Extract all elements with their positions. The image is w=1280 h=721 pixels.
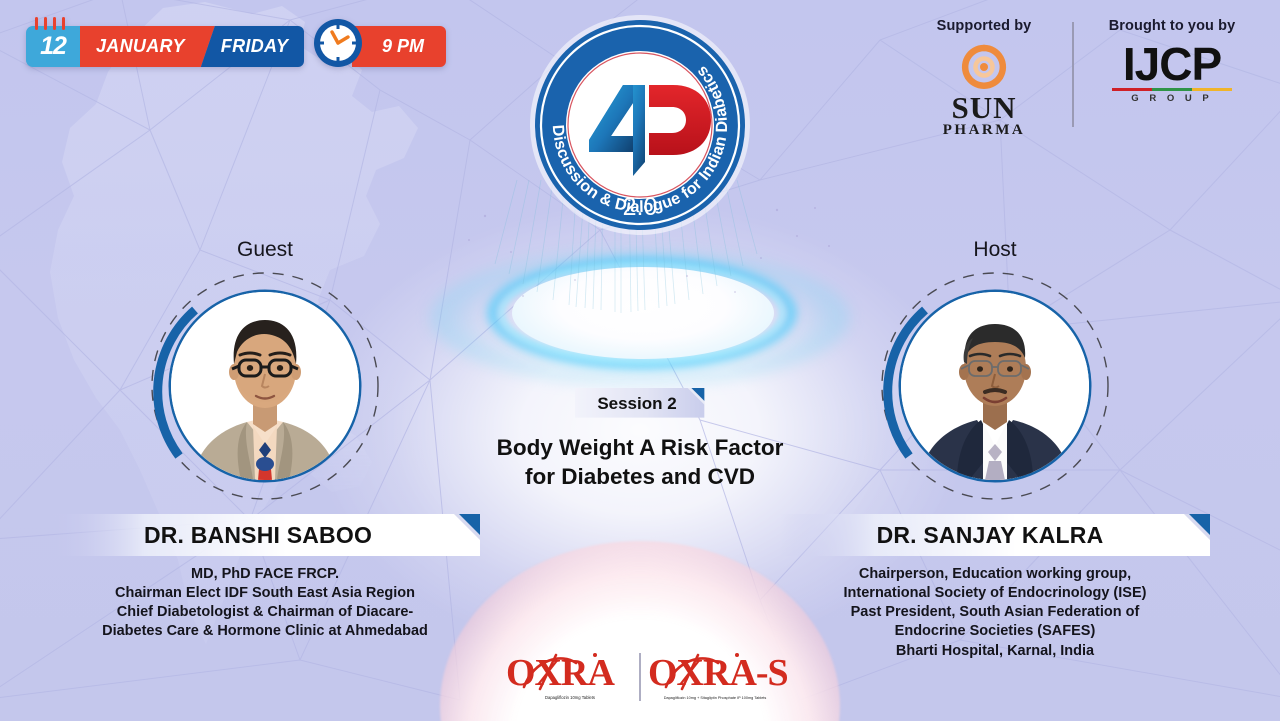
speaker-nameplate: DR. BANSHI SABOO xyxy=(50,514,480,556)
sun-pharma-mark-icon xyxy=(957,41,1011,93)
oxra-s-wordmark: OXRA-S xyxy=(648,652,788,694)
calendar-rings-icon xyxy=(35,17,65,30)
speaker-photo-sanjay-kalra xyxy=(901,292,1089,480)
calendar-icon: 12 xyxy=(26,26,80,67)
event-poster-stage: 12 JANUARY FRIDAY 9 PM xyxy=(0,0,1280,721)
bio-line: Endocrine Societies (SAFES) xyxy=(780,622,1210,641)
speaker-photo-frame xyxy=(149,270,381,502)
bio-line: Chairperson, Education working group, xyxy=(780,565,1210,584)
session-title-line: for Diabetes and CVD xyxy=(440,463,840,492)
sponsor-supported-by: Supported by SUN PHARMA xyxy=(910,18,1058,139)
sun-pharma-subtext: PHARMA xyxy=(943,122,1026,139)
session-title-line: Body Weight A Risk Factor xyxy=(440,434,840,463)
speaker-card-guest: Guest xyxy=(50,238,480,642)
speaker-name: DR. SANJAY KALRA xyxy=(780,514,1210,556)
time-badge: 9 PM xyxy=(310,26,446,67)
sun-pharma-wordmark: SUN xyxy=(951,93,1016,122)
sun-pharma-logo: SUN PHARMA xyxy=(910,41,1058,139)
ijcp-group-logo: IJCP G R O U P xyxy=(1088,41,1256,104)
oxra-dot-icon xyxy=(593,653,597,657)
oxra-s-dot-icon xyxy=(735,653,739,657)
sponsor-area: Supported by SUN PHARMA Brought to you b… xyxy=(910,18,1256,139)
bio-line: Bharti Hospital, Karnal, India xyxy=(780,642,1210,661)
session-block: Session 2 Body Weight A Risk Factor for … xyxy=(440,388,840,492)
oxra-product-logo: OXRA OXRA-S Dapagliflozin 10mg Tablets D… xyxy=(500,643,790,715)
date-day-number: 12 xyxy=(40,32,66,61)
speaker-photo-frame xyxy=(879,270,1111,502)
session-title: Body Weight A Risk Factor for Diabetes a… xyxy=(440,434,840,492)
bio-line: Past President, South Asian Federation o… xyxy=(780,603,1210,622)
speaker-role-label: Host xyxy=(780,238,1210,262)
emblem-version: 2.0 xyxy=(623,193,658,221)
speaker-bio: Chairperson, Education working group, In… xyxy=(780,565,1210,661)
bio-line: Chairman Elect IDF South East Asia Regio… xyxy=(50,584,480,603)
sponsor-label: Supported by xyxy=(910,18,1058,34)
sponsor-brought-by: Brought to you by IJCP G R O U P xyxy=(1088,18,1256,104)
date-badge: 12 JANUARY FRIDAY xyxy=(26,26,304,67)
speaker-nameplate: DR. SANJAY KALRA xyxy=(780,514,1210,556)
speaker-card-host: Host xyxy=(780,238,1210,661)
date-month: JANUARY xyxy=(80,26,215,67)
oxra-s-subtext: Dapagliflozin 10mg + Sitagliptin Phospha… xyxy=(664,696,767,700)
sponsor-divider xyxy=(1072,22,1074,127)
session-badge: Session 2 xyxy=(575,388,704,421)
clock-icon xyxy=(310,15,366,71)
bio-line: International Society of Endocrinology (… xyxy=(780,584,1210,603)
speaker-role-label: Guest xyxy=(50,238,480,262)
bio-line: Diabetes Care & Hormone Clinic at Ahmeda… xyxy=(50,622,480,641)
bio-line: Chief Diabetologist & Chairman of Diacar… xyxy=(50,603,480,622)
session-badge-label: Session 2 xyxy=(575,388,704,421)
speaker-bio: MD, PhD FACE FRCP. Chairman Elect IDF So… xyxy=(50,565,480,642)
speaker-photo-banshi-saboo xyxy=(171,292,359,480)
sponsor-label: Brought to you by xyxy=(1088,18,1256,34)
event-emblem-logo: Detail Discussion & Dialogue for Indian … xyxy=(527,12,753,238)
oxra-subtext: Dapagliflozin 10mg Tablets xyxy=(545,695,595,700)
time-value: 9 PM xyxy=(352,26,446,67)
ijcp-wordmark: IJCP xyxy=(1123,41,1221,87)
speaker-name: DR. BANSHI SABOO xyxy=(50,514,480,556)
date-weekday: FRIDAY xyxy=(201,26,304,67)
ijcp-color-bars xyxy=(1112,88,1232,91)
bio-line: MD, PhD FACE FRCP. xyxy=(50,565,480,584)
ijcp-group-subtext: G R O U P xyxy=(1131,93,1212,104)
